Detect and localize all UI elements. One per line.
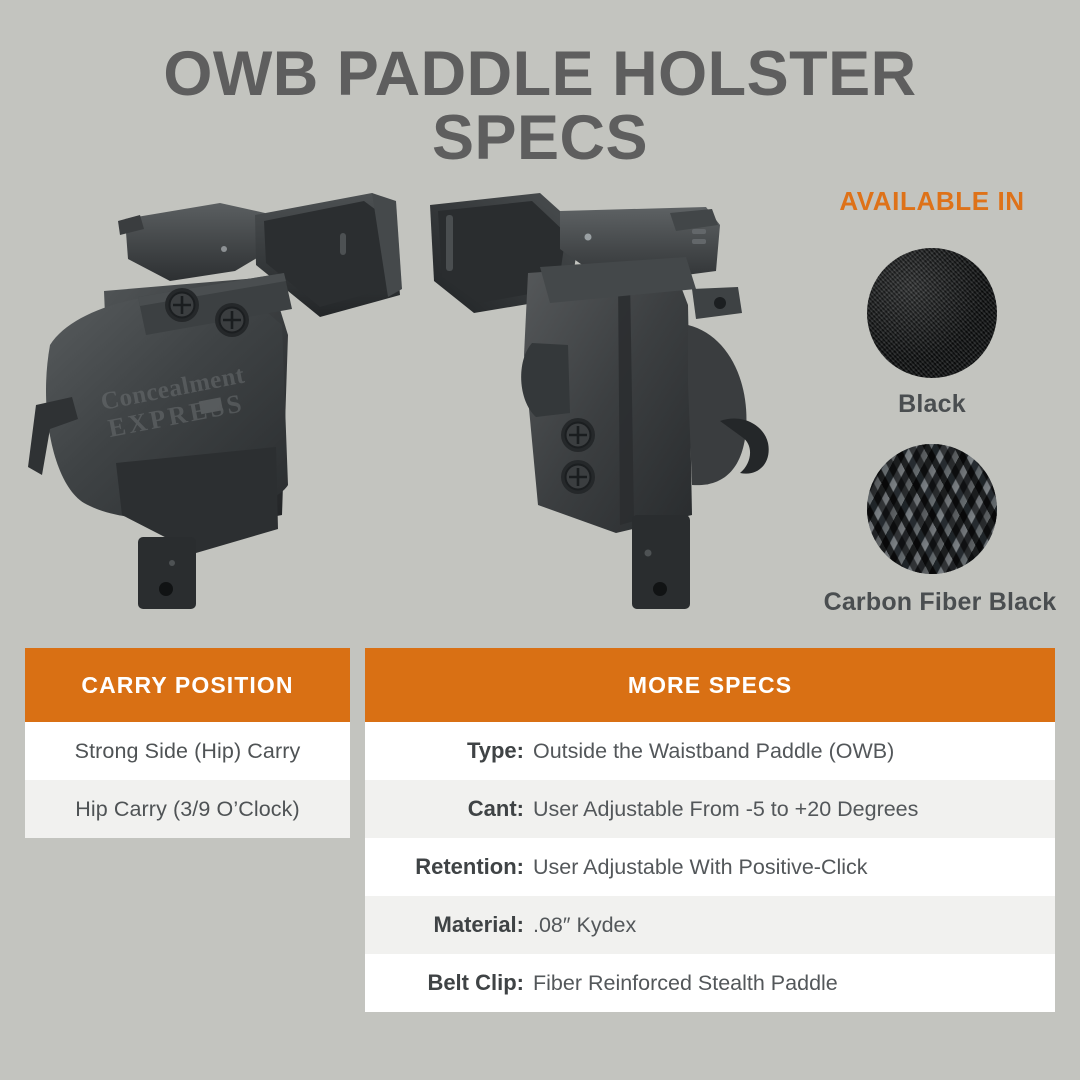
- table-row: Cant: User Adjustable From -5 to +20 Deg…: [365, 780, 1055, 838]
- table-row: Strong Side (Hip) Carry: [25, 722, 350, 780]
- spec-label: Retention:: [365, 854, 533, 880]
- spec-value: .08″ Kydex: [533, 913, 1055, 938]
- more-specs-table: MORE SPECS Type: Outside the Waistband P…: [365, 648, 1055, 1012]
- table-row: Type: Outside the Waistband Paddle (OWB): [365, 722, 1055, 780]
- table-row: Retention: User Adjustable With Positive…: [365, 838, 1055, 896]
- page-title: OWB PADDLE HOLSTER SPECS: [0, 42, 1080, 171]
- retention-screw-lower: [215, 303, 249, 337]
- belt-clip-hole: [714, 297, 726, 309]
- available-in-heading: AVAILABLE IN: [790, 186, 1074, 217]
- table-row: Belt Clip: Fiber Reinforced Stealth Padd…: [365, 954, 1055, 1012]
- spec-label: Cant:: [365, 796, 533, 822]
- carry-position-value: Hip Carry (3/9 O’Clock): [75, 797, 300, 822]
- holster-back-view-image: [420, 185, 820, 625]
- carry-position-value: Strong Side (Hip) Carry: [75, 739, 301, 764]
- color-swatch-carbon-fiber-black[interactable]: Carbon Fiber Black: [790, 444, 1074, 617]
- more-specs-table-header: MORE SPECS: [365, 648, 1055, 722]
- stealth-paddle: [688, 325, 746, 485]
- swatch-circle-black[interactable]: [867, 248, 997, 378]
- spec-label: Material:: [365, 912, 533, 938]
- stem-detail: [645, 550, 652, 557]
- stem-hole: [653, 582, 667, 596]
- carry-position-table: CARRY POSITION Strong Side (Hip) Carry H…: [25, 648, 350, 838]
- light-housing: [116, 447, 278, 553]
- swatch-label-black: Black: [790, 390, 1074, 419]
- spec-label: Belt Clip:: [365, 970, 533, 996]
- table-row: Hip Carry (3/9 O’Clock): [25, 780, 350, 838]
- retention-screw-lower: [561, 460, 595, 494]
- product-gallery: Concealment EXPRESS: [0, 180, 800, 630]
- spec-value: Outside the Waistband Paddle (OWB): [533, 739, 1055, 764]
- stem-detail: [169, 560, 175, 566]
- retention-screw-upper: [165, 288, 199, 322]
- spec-label: Type:: [365, 738, 533, 764]
- retention-screw-upper: [561, 418, 595, 452]
- spec-value: User Adjustable From -5 to +20 Degrees: [533, 797, 1055, 822]
- holster-front-view-image: Concealment EXPRESS: [20, 185, 420, 625]
- swatch-label-carbon-fiber: Carbon Fiber Black: [798, 588, 1080, 617]
- page-title-line-2: SPECS: [0, 106, 1080, 170]
- available-in-panel: AVAILABLE IN Black Carbon Fiber Black: [790, 186, 1080, 626]
- paddle-stem: [138, 537, 196, 609]
- color-swatch-black[interactable]: Black: [790, 248, 1074, 419]
- swatch-circle-carbon-fiber[interactable]: [867, 444, 997, 574]
- table-row: Material: .08″ Kydex: [365, 896, 1055, 954]
- spec-value: User Adjustable With Positive-Click: [533, 855, 1055, 880]
- carry-position-table-header: CARRY POSITION: [25, 648, 350, 722]
- trigger-guard-bulge: [521, 343, 570, 417]
- spec-value: Fiber Reinforced Stealth Paddle: [533, 971, 1055, 996]
- page-title-line-1: OWB PADDLE HOLSTER: [0, 42, 1080, 106]
- stem-hole: [159, 582, 173, 596]
